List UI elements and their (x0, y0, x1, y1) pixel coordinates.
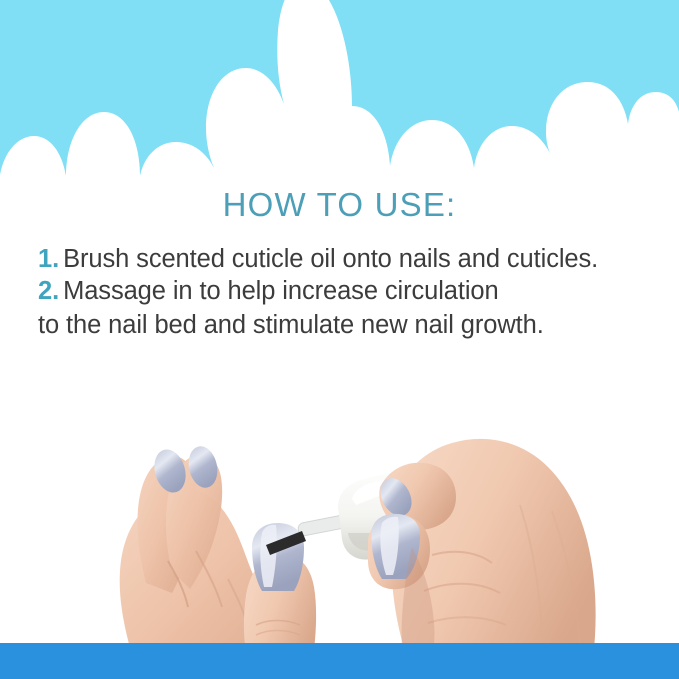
list-item: 1.Brush scented cuticle oil onto nails a… (38, 243, 653, 275)
list-item: 2.Massage in to help increase circulatio… (38, 275, 653, 307)
step-number: 1. (38, 245, 59, 273)
bottom-blue-bar (0, 643, 679, 679)
hands-applying-cuticle-oil-photo (0, 375, 679, 679)
cloud-band (0, 0, 679, 175)
step-text-continuation: to the nail bed and stimulate new nail g… (38, 309, 653, 341)
instruction-list: 1.Brush scented cuticle oil onto nails a… (38, 243, 653, 341)
page-title: HOW TO USE: (0, 186, 679, 224)
step-text: Massage in to help increase circulation (63, 277, 499, 305)
step-number: 2. (38, 277, 59, 305)
step-text: Brush scented cuticle oil onto nails and… (63, 245, 598, 273)
target-finger-nail (252, 523, 304, 591)
poster-root: HOW TO USE: 1.Brush scented cuticle oil … (0, 0, 679, 679)
